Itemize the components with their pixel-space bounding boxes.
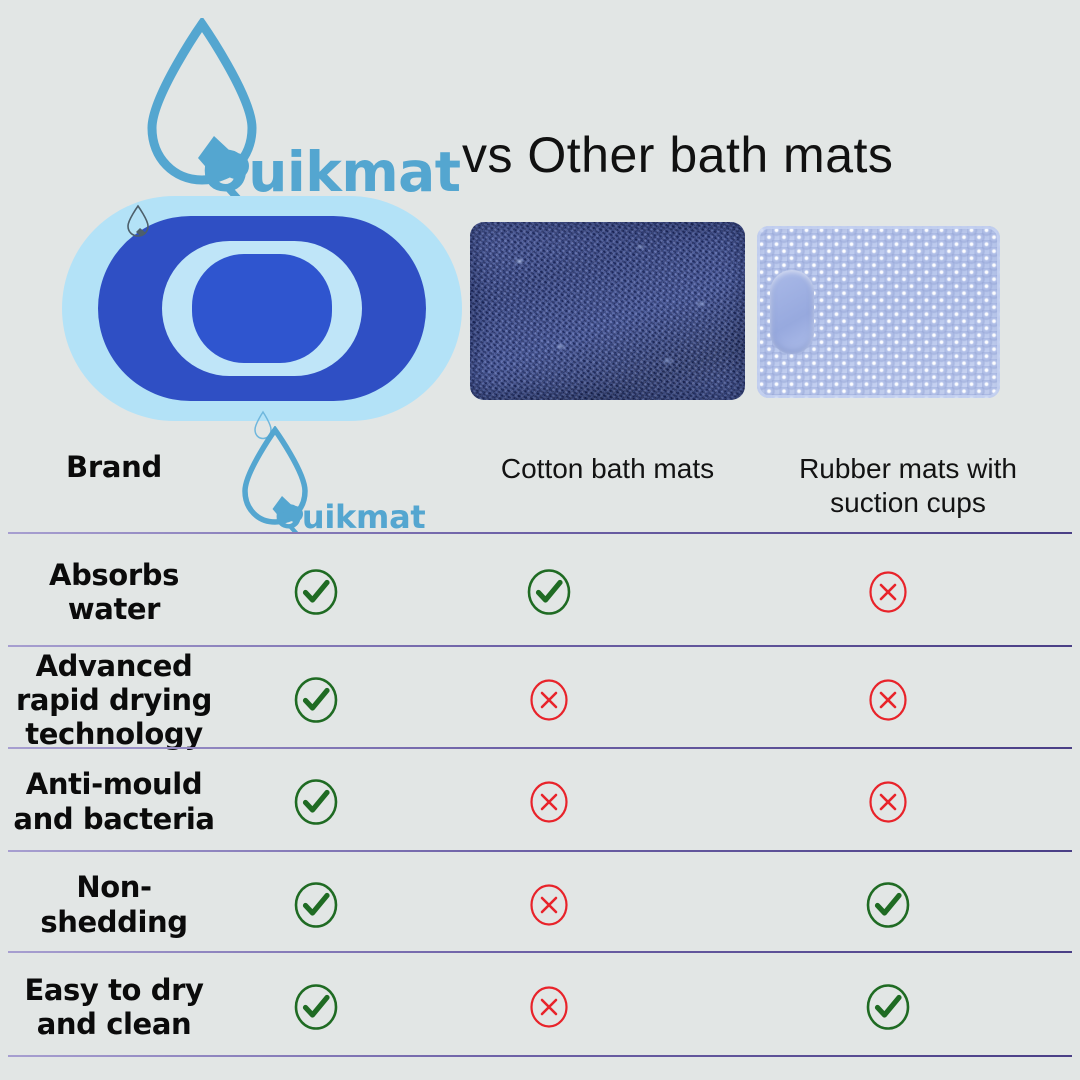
- row-label-line1: Anti-mould: [26, 767, 202, 801]
- cross-circle-icon: [864, 676, 912, 724]
- row-label-line2: shedding: [40, 905, 187, 939]
- check-circle-icon: [864, 983, 912, 1031]
- check-circle-icon: [292, 676, 340, 724]
- check-circle-icon: [525, 568, 573, 616]
- cell-rubber: [695, 881, 1080, 929]
- cotton-shag-bath-mat-image: [470, 222, 745, 400]
- table-row: Anti-mould and bacteria: [0, 754, 1080, 849]
- row-label: Anti-mould and bacteria: [0, 767, 228, 835]
- rubber-mat-edge: [757, 226, 1000, 398]
- page-header: Quikmat vs Other bath mats: [0, 0, 1080, 200]
- page-title: vs Other bath mats: [462, 126, 893, 184]
- cell-cotton: [403, 881, 695, 929]
- cell-quikmat: [228, 778, 403, 826]
- cross-circle-icon: [525, 778, 573, 826]
- row-label-line1: Easy to dry: [24, 973, 203, 1007]
- brand-column-label: Brand: [0, 450, 228, 484]
- check-circle-icon: [292, 881, 340, 929]
- check-circle-icon: [292, 983, 340, 1031]
- rubber-suction-cup-mat-image: [757, 226, 1000, 398]
- cell-rubber: [695, 778, 1080, 826]
- row-label-line1: Advanced: [36, 649, 193, 683]
- quikmat-oval-bath-mat-image: [62, 196, 462, 421]
- check-circle-icon: [292, 568, 340, 616]
- cell-quikmat: [228, 881, 403, 929]
- brand-logo-small: Quikmat: [238, 426, 418, 526]
- cell-rubber: [695, 983, 1080, 1031]
- column-header-rubber-line1: Rubber mats with: [799, 453, 1017, 484]
- cell-cotton: [403, 778, 695, 826]
- cross-circle-icon: [525, 676, 573, 724]
- check-circle-icon: [292, 778, 340, 826]
- row-label-line1: Non-: [76, 870, 151, 904]
- check-circle-icon: [864, 881, 912, 929]
- table-row: Easy to dry and clean: [0, 958, 1080, 1056]
- row-label-line2: and bacteria: [13, 802, 214, 836]
- row-label: Advanced rapid drying technology: [0, 649, 228, 752]
- cell-cotton: [403, 983, 695, 1031]
- cell-quikmat: [228, 568, 403, 616]
- row-label: Easy to dry and clean: [0, 973, 228, 1041]
- brand-wordmark: Quikmat: [202, 145, 461, 200]
- row-divider: [8, 747, 1072, 749]
- row-label-line2: rapid drying: [16, 683, 212, 717]
- column-header-rubber: Rubber mats with suction cups: [768, 452, 1048, 519]
- cell-rubber: [695, 568, 1080, 616]
- mat-core: [192, 254, 332, 363]
- cell-quikmat: [228, 983, 403, 1031]
- row-label-line2: water: [68, 592, 160, 626]
- row-label-line2: and clean: [37, 1007, 191, 1041]
- water-droplet-icon: [125, 204, 151, 238]
- brand-wordmark: Quikmat: [275, 501, 425, 533]
- cell-cotton: [403, 676, 695, 724]
- row-divider: [8, 645, 1072, 647]
- row-label: Non- shedding: [0, 870, 228, 938]
- row-divider: [8, 850, 1072, 852]
- cell-rubber: [695, 676, 1080, 724]
- cross-circle-icon: [864, 778, 912, 826]
- row-divider: [8, 532, 1072, 534]
- row-divider: [8, 1055, 1072, 1057]
- table-row: Non- shedding: [0, 857, 1080, 952]
- column-header-cotton: Cotton bath mats: [460, 452, 755, 486]
- row-label-line1: Absorbs: [49, 558, 179, 592]
- cell-cotton: [403, 568, 695, 616]
- brand-logo-large: Quikmat: [140, 18, 440, 188]
- table-row: Advanced rapid drying technology: [0, 650, 1080, 750]
- table-row: Absorbs water: [0, 542, 1080, 642]
- row-label: Absorbs water: [0, 558, 228, 626]
- cross-circle-icon: [525, 983, 573, 1031]
- row-divider: [8, 951, 1072, 953]
- row-label-line3: technology: [25, 717, 202, 751]
- column-header-rubber-line2: suction cups: [830, 487, 986, 518]
- cell-quikmat: [228, 676, 403, 724]
- cross-circle-icon: [864, 568, 912, 616]
- cross-circle-icon: [525, 881, 573, 929]
